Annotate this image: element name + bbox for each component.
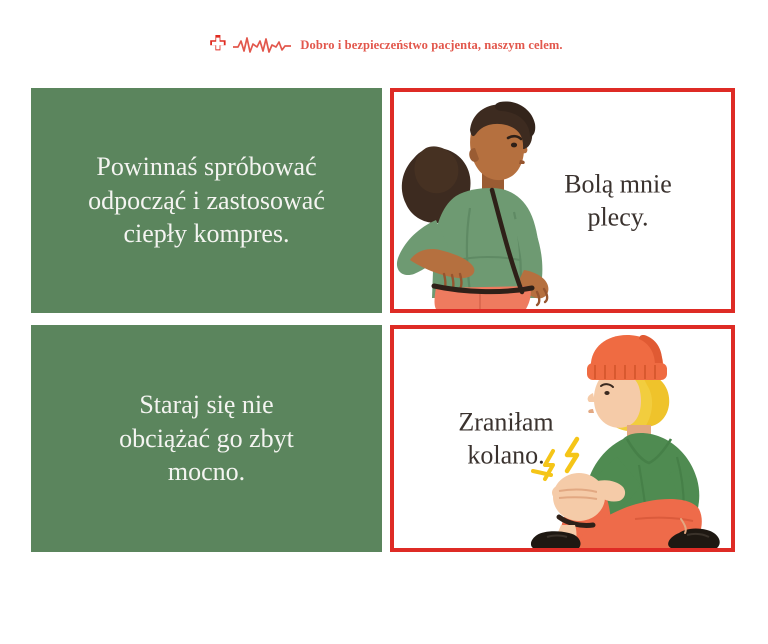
comic-board: Powinnaś spróbować odpocząć i zastosować… — [31, 88, 735, 552]
advice-panel-1: Powinnaś spróbować odpocząć i zastosować… — [31, 88, 382, 313]
advice-text-1: Powinnaś spróbować odpocząć i zastosować… — [66, 150, 347, 251]
scene-panel-2: Zraniłam kolano. — [390, 325, 735, 552]
page-header: Dobro i bezpieczeństwo pacjenta, naszym … — [0, 0, 768, 88]
advice-text-2: Staraj się nie obciążać go zbyt mocno. — [97, 388, 316, 489]
scene-panel-1: Bolą mnie plecy. — [390, 88, 735, 313]
brand-tagline: Dobro i bezpieczeństwo pacjenta, naszym … — [300, 38, 562, 53]
advice-panel-2: Staraj się nie obciążać go zbyt mocno. — [31, 325, 382, 552]
scene-caption-1: Bolą mnie plecy. — [523, 167, 713, 234]
medical-cross-heartbeat-icon — [205, 33, 291, 57]
woman-crouching-holding-injured-knee-illustration — [531, 329, 731, 548]
